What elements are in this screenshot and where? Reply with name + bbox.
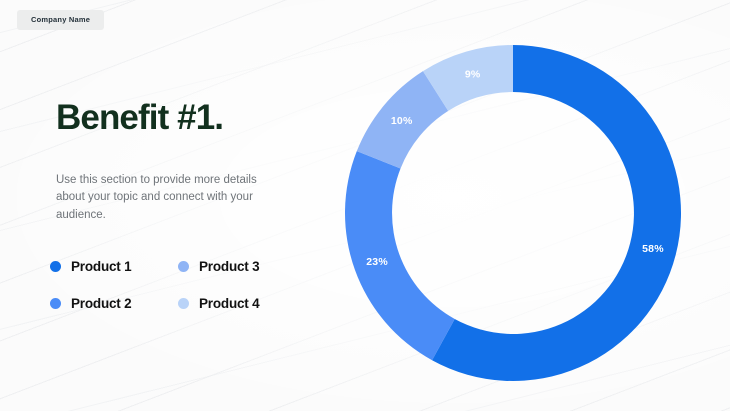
chart-legend: Product 1 Product 3 Product 2 Product 4 (50, 248, 306, 322)
legend-dot-icon (178, 298, 189, 309)
legend-item-product-2[interactable]: Product 2 (50, 296, 178, 311)
legend-dot-icon (50, 298, 61, 309)
donut-chart: 58%23%10%9% (343, 43, 683, 383)
content-column: Benefit #1. Use this section to provide … (56, 100, 321, 224)
slide-canvas: Company Name Benefit #1. Use this sectio… (0, 0, 730, 411)
legend-item-label: Product 1 (71, 259, 131, 274)
donut-chart-svg: 58%23%10%9% (343, 43, 683, 383)
legend-item-label: Product 3 (199, 259, 259, 274)
legend-dot-icon (50, 261, 61, 272)
legend-dot-icon (178, 261, 189, 272)
donut-slice-label-2: 23% (366, 256, 388, 268)
donut-slice-label-1: 58% (642, 243, 664, 255)
company-name-badge: Company Name (17, 10, 104, 30)
legend-item-label: Product 2 (71, 296, 131, 311)
legend-item-label: Product 4 (199, 296, 259, 311)
donut-slice-2[interactable] (345, 151, 455, 360)
legend-item-product-1[interactable]: Product 1 (50, 259, 178, 274)
donut-slice-label-4: 9% (465, 68, 481, 80)
donut-slice-group (345, 45, 681, 381)
legend-item-product-4[interactable]: Product 4 (178, 296, 306, 311)
page-title: Benefit #1. (56, 100, 321, 137)
donut-slice-label-3: 10% (391, 115, 413, 127)
body-paragraph: Use this section to provide more details… (56, 172, 262, 224)
legend-item-product-3[interactable]: Product 3 (178, 259, 306, 274)
